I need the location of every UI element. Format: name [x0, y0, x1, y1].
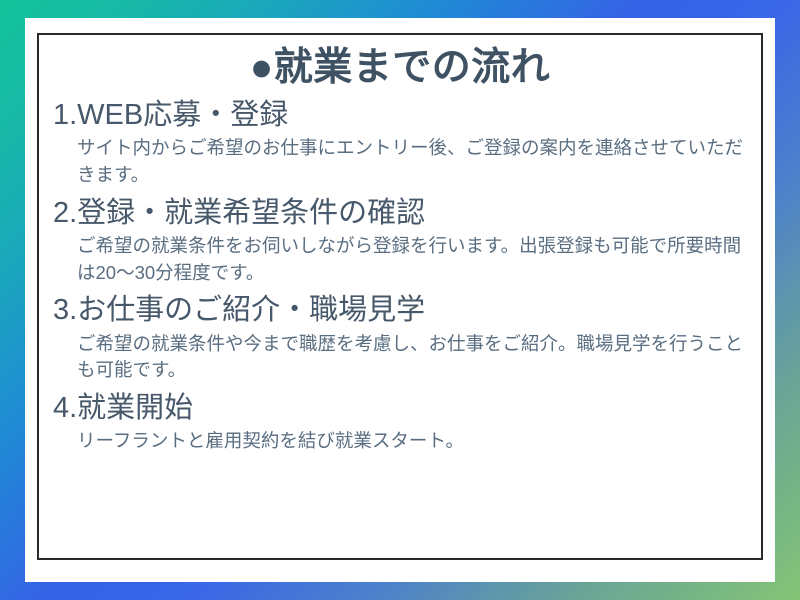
poster-canvas: ●就業までの流れ 1.WEB応募・登録 サイト内からご希望のお仕事にエントリー後…	[0, 0, 800, 600]
step-4-body: リーフラントと雇用契約を結び就業スタート。	[77, 428, 747, 455]
step-item-4: 4.就業開始 リーフラントと雇用契約を結び就業スタート。	[53, 390, 747, 455]
step-2-body: ご希望の就業条件をお伺いしながら登録を行います。出張登録も可能で所要時間は20〜…	[77, 233, 747, 287]
step-3-heading: 3.お仕事のご紹介・職場見学	[53, 292, 747, 329]
step-item-1: 1.WEB応募・登録 サイト内からご希望のお仕事にエントリー後、ご登録の案内を連…	[53, 97, 747, 189]
step-item-2: 2.登録・就業希望条件の確認 ご希望の就業条件をお伺いしながら登録を行います。出…	[53, 195, 747, 287]
page-title: ●就業までの流れ	[53, 45, 747, 91]
step-3-body: ご希望の就業条件や今まで職歴を考慮し、お仕事をご紹介。職場見学を行うことも可能で…	[77, 331, 747, 385]
step-4-heading: 4.就業開始	[53, 390, 747, 427]
poster-content: ●就業までの流れ 1.WEB応募・登録 サイト内からご希望のお仕事にエントリー後…	[37, 33, 763, 560]
step-2-heading: 2.登録・就業希望条件の確認	[53, 195, 747, 232]
step-1-body: サイト内からご希望のお仕事にエントリー後、ご登録の案内を連絡させていただきます。	[77, 135, 747, 189]
step-item-3: 3.お仕事のご紹介・職場見学 ご希望の就業条件や今まで職歴を考慮し、お仕事をご紹…	[53, 292, 747, 384]
step-1-heading: 1.WEB応募・登録	[53, 97, 747, 134]
